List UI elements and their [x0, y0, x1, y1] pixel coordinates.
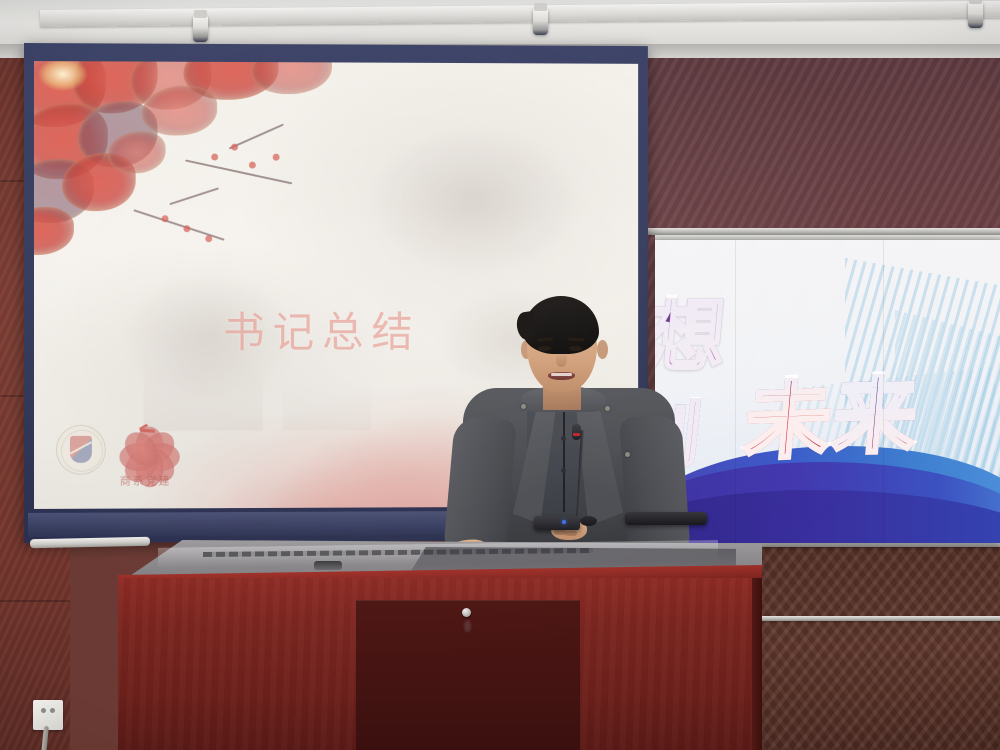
plum-branch-1 [185, 159, 292, 184]
banner-char-lai: 来 [829, 373, 921, 458]
microphone-indicator-ring [573, 433, 580, 436]
podium-right-edge [752, 578, 762, 750]
person-jacket-snap-2 [605, 406, 610, 411]
plum-blossom-1 [211, 154, 218, 161]
person-shirt-placket [563, 404, 565, 512]
spotlight-2-icon [533, 9, 548, 35]
black-av-device [625, 512, 707, 525]
person-hair [523, 296, 599, 354]
person-left-arm [443, 415, 517, 558]
plum-blossom-4 [273, 154, 280, 161]
spotlight-3-icon [968, 2, 983, 28]
plum-blossom-2 [231, 144, 238, 151]
plum-blossom-7 [205, 235, 212, 242]
banner-seam-1 [735, 240, 736, 543]
lectern-podium [118, 540, 762, 750]
left-wall-seam-lower [0, 600, 70, 602]
podium-door-knob[interactable] [462, 608, 471, 617]
school-crest-emblem [56, 425, 106, 475]
person-jacket-snap-3 [625, 452, 630, 457]
ink-wash-texture-1 [332, 102, 617, 301]
plum-blossom-6 [183, 225, 190, 232]
gooseneck-microphone-head [572, 424, 581, 440]
person-eye-left [538, 346, 551, 351]
podium-cable-grommet [314, 561, 342, 570]
podium-knob-reflection [464, 620, 471, 632]
spotlight-1-icon [193, 16, 208, 42]
person-mouth [548, 372, 575, 380]
person-shirt-button-2 [561, 468, 566, 473]
person-jacket-snap-1 [521, 404, 526, 409]
ceiling-track-rail [40, 1, 1000, 27]
black-av-puck [580, 516, 597, 526]
person-eye-right [569, 346, 582, 351]
backdrop-banner: 想 创 未 来 [655, 240, 1000, 543]
person-ear-right [597, 340, 608, 359]
party-building-flower-logo [122, 421, 178, 477]
person-shirt-button-1 [561, 436, 566, 441]
plum-branch-4 [169, 187, 219, 204]
plum-blossom-5 [162, 215, 169, 222]
person-right-arm [619, 414, 691, 558]
wall-power-outlet [33, 700, 63, 730]
banner-char-wei: 未 [741, 377, 835, 466]
room-photo-scene: 书记总结 商系党建 [0, 0, 1000, 750]
person-nose [556, 353, 567, 367]
wall-trim-upper [648, 228, 1000, 235]
plum-blossom-3 [249, 162, 256, 169]
banner-seam-2 [883, 240, 884, 543]
microphone-base[interactable] [534, 516, 580, 530]
slide-title: 书记总结 [223, 299, 421, 360]
wall-trim-lower [760, 616, 1000, 621]
party-building-logo-text: 商系党建 [120, 472, 172, 488]
